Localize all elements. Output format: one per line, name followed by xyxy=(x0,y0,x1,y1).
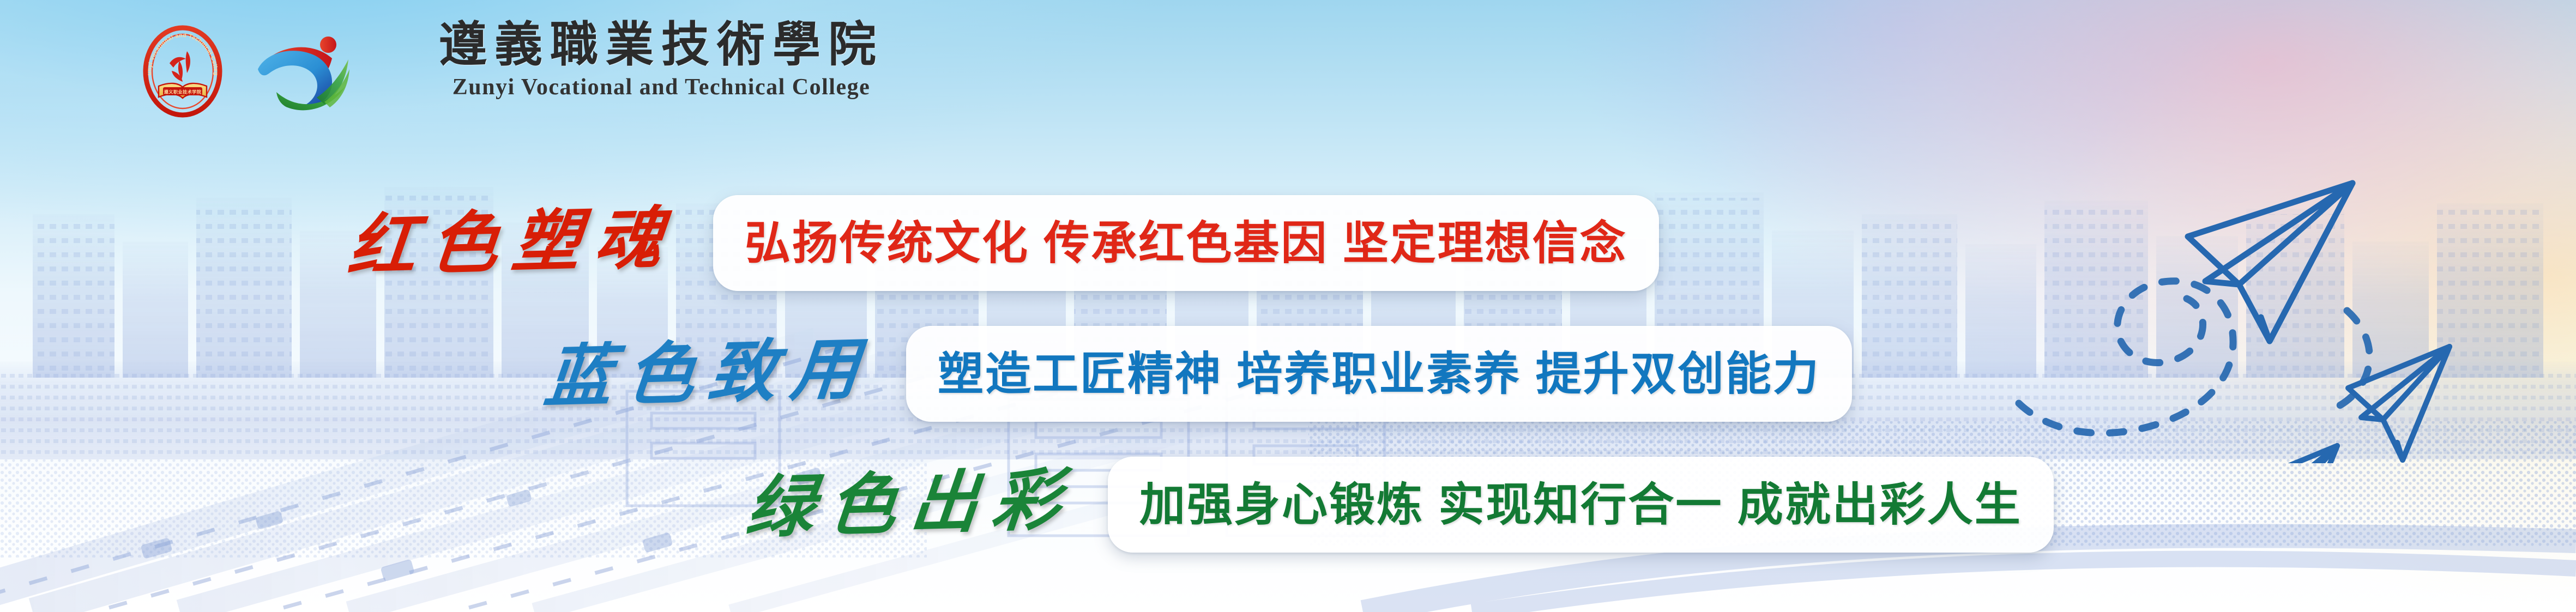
slogan-row-blue: 蓝色致用 塑造工匠精神 培养职业素养 提升双创能力 xyxy=(545,326,1852,422)
campus-banner: Zunyi Vocational and Technical College 遵… xyxy=(0,0,2576,612)
slogan-row-red: 红色塑魂 弘扬传统文化 传承红色基因 坚定理想信念 xyxy=(349,195,1659,291)
seal-book-text: 遵义职业技术学院 xyxy=(164,89,202,95)
logo-group: Zunyi Vocational and Technical College 遵… xyxy=(139,25,356,118)
calligraphy-blue: 蓝色致用 xyxy=(541,336,876,412)
dashed-flight-trail-icon xyxy=(2019,281,2369,433)
paper-plane-icon xyxy=(2188,183,2352,341)
college-name-block: 遵義職業技術學院 Zunyi Vocational and Technical … xyxy=(439,21,884,100)
college-name-en: Zunyi Vocational and Technical College xyxy=(453,74,871,100)
college-name-cn: 遵義職業技術學院 xyxy=(439,21,884,71)
calligraphy-red: 红色塑魂 xyxy=(345,205,680,281)
slogan-pill-blue-text: 塑造工匠精神 培养职业素养 提升双创能力 xyxy=(938,351,1820,397)
slogan-pill-green: 加强身心锻炼 实现知行合一 成就出彩人生 xyxy=(1108,457,2054,553)
calligraphy-green: 绿色出彩 xyxy=(743,466,1078,543)
paper-plane-icon xyxy=(2250,446,2337,463)
college-swoosh-logo-icon xyxy=(252,28,356,115)
banner-header: Zunyi Vocational and Technical College 遵… xyxy=(0,0,2576,136)
college-seal-icon: Zunyi Vocational and Technical College 遵… xyxy=(139,25,226,118)
slogan-pill-red: 弘扬传统文化 传承红色基因 坚定理想信念 xyxy=(713,195,1659,291)
slogan-pill-green-text: 加强身心锻炼 实现知行合一 成就出彩人生 xyxy=(1139,482,2022,528)
paper-plane-icon xyxy=(2348,347,2450,460)
slogan-row-green: 绿色出彩 加强身心锻炼 实现知行合一 成就出彩人生 xyxy=(747,457,2054,553)
slogan-pill-red-text: 弘扬传统文化 传承红色基因 坚定理想信念 xyxy=(745,220,1627,266)
paper-planes-decoration xyxy=(2014,147,2560,463)
slogan-pill-blue: 塑造工匠精神 培养职业素养 提升双创能力 xyxy=(906,326,1852,422)
